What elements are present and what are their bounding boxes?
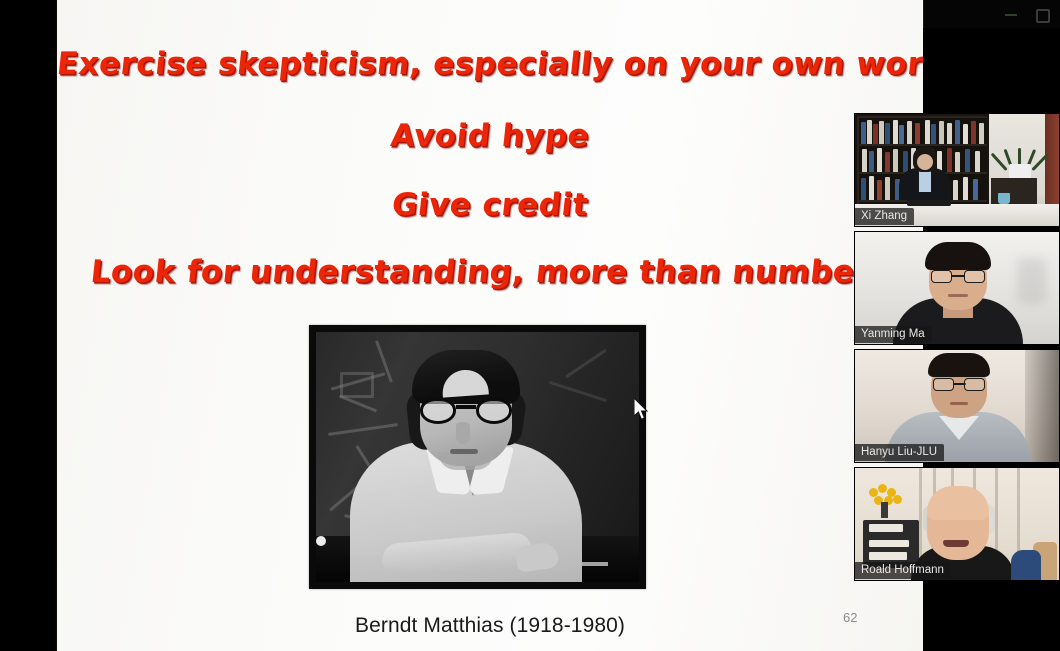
slide-bullet-2: Avoid hype — [57, 118, 923, 154]
participant-mouth — [950, 402, 968, 405]
participant-hair — [925, 242, 991, 270]
glasses-lens-left — [931, 270, 952, 283]
shelf-cart — [863, 520, 919, 568]
participant-tile-2[interactable]: Yanming Ma — [854, 231, 1060, 345]
glasses-lens-left — [420, 398, 456, 424]
participant-tile-4[interactable]: Roald Hoffmann — [854, 467, 1060, 581]
laptop — [907, 200, 951, 206]
slide-bullet-4: Look for understanding, more than number… — [57, 254, 923, 290]
portrait-nose — [456, 422, 470, 444]
participant-mouth — [948, 294, 968, 297]
glasses-bridge — [952, 275, 964, 277]
participant-name-4: Roald Hoffmann — [855, 562, 951, 579]
slide-page-number: 62 — [843, 610, 857, 625]
slide-bullet-1: Exercise skepticism, especially on your … — [57, 46, 923, 82]
mouse-cursor — [634, 398, 650, 422]
portrait-glasses — [418, 398, 516, 424]
participant-face — [917, 154, 933, 170]
background-blur — [1017, 258, 1047, 304]
glasses-lens-right — [964, 378, 985, 391]
glasses-lens-left — [933, 378, 954, 391]
glasses-bridge — [456, 405, 476, 409]
vase — [881, 502, 888, 518]
presentation-slide: Exercise skepticism, especially on your … — [57, 0, 923, 651]
glasses-lens-right — [964, 270, 985, 283]
maximize-icon[interactable] — [1034, 7, 1048, 21]
screen-share-view: Exercise skepticism, especially on your … — [0, 0, 1060, 651]
glasses-lens-right — [476, 398, 512, 424]
slide-bullet-3: Give credit — [57, 187, 923, 223]
participant-mouth — [943, 540, 969, 547]
participant-glasses — [933, 378, 985, 391]
portrait-photo-frame — [309, 325, 646, 589]
mug — [998, 193, 1010, 204]
desk-object — [578, 562, 608, 566]
letterbox-left — [0, 0, 57, 651]
desk-object — [316, 536, 326, 546]
photo-caption: Berndt Matthias (1918-1980) — [57, 614, 923, 638]
participant-tile-1[interactable]: Xi Zhang — [854, 113, 1060, 227]
participant-video-strip: Xi Zhang Yanming Ma — [854, 113, 1060, 583]
portrait-photo-berndt-matthias — [316, 332, 639, 582]
participant-glasses — [931, 270, 985, 283]
window-controls-bar — [923, 0, 1060, 28]
participant-tile-3[interactable]: Hanyu Liu-JLU — [854, 349, 1060, 463]
participant-name-1: Xi Zhang — [855, 208, 914, 225]
portrait-mouth — [450, 449, 478, 454]
participant-shirt — [1011, 550, 1041, 580]
participant-name-3: Hanyu Liu-JLU — [855, 444, 944, 461]
participant-bald-head — [927, 486, 989, 520]
minimize-icon[interactable] — [1004, 7, 1018, 21]
participant-shirt — [919, 170, 931, 192]
participant-hair — [928, 353, 990, 377]
background-shadow — [1025, 350, 1059, 462]
participant-name-2: Yanming Ma — [855, 326, 932, 343]
